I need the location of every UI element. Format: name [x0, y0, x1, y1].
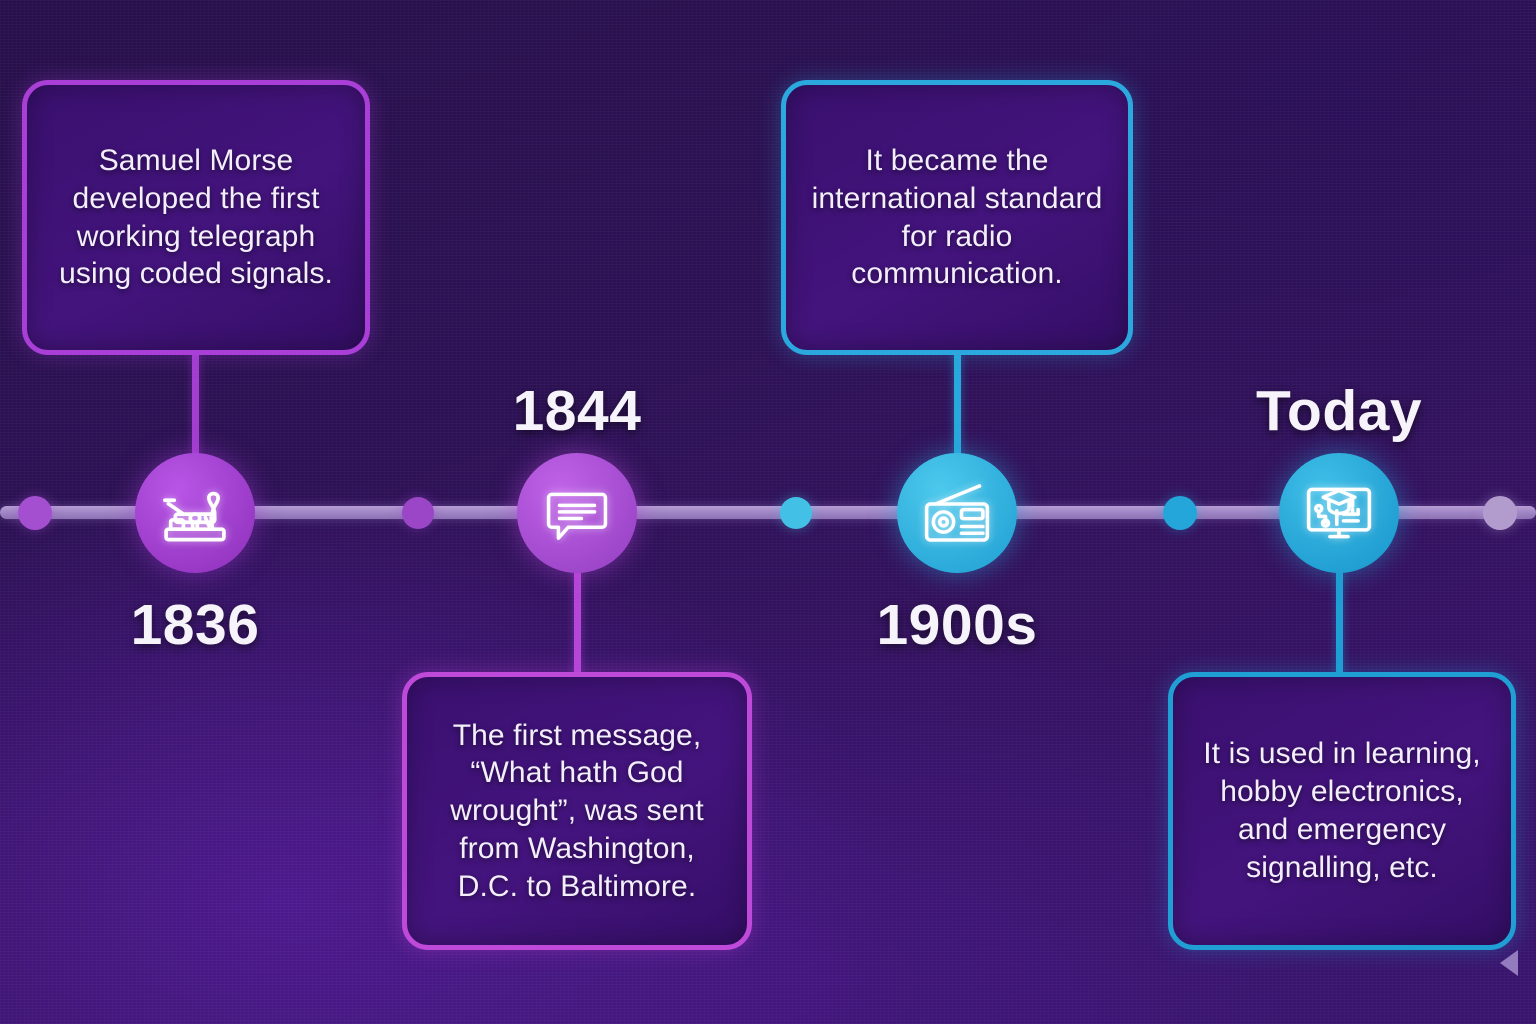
timeline-node-1844[interactable] [517, 453, 637, 573]
elearning-monitor-icon [1303, 477, 1375, 549]
milestone-year-label-1900s: 1900s [787, 592, 1127, 658]
milestone-card-text-1844: The first message, “What hath God wrough… [427, 717, 727, 906]
message-bubble-icon [542, 478, 612, 548]
connector-stem-1900s [954, 351, 961, 461]
rail-dot-start [18, 496, 52, 530]
milestone-year-label-today: Today [1169, 378, 1509, 444]
milestone-card-text-today: It is used in learning, hobby electronic… [1193, 735, 1491, 886]
milestone-card-1836[interactable]: Samuel Morse developed the first working… [22, 80, 370, 355]
connector-stem-1844 [574, 565, 581, 678]
milestone-year-label-1836: 1836 [25, 592, 365, 658]
timeline-node-1836[interactable] [135, 453, 255, 573]
timeline-node-1900s[interactable] [897, 453, 1017, 573]
milestone-card-1844[interactable]: The first message, “What hath God wrough… [402, 672, 752, 950]
rail-dot-3 [1163, 496, 1197, 530]
milestone-card-text-1836: Samuel Morse developed the first working… [47, 142, 345, 293]
rail-dot-end [1483, 496, 1517, 530]
connector-stem-1836 [192, 351, 199, 461]
rail-dot-1 [402, 497, 434, 529]
radio-icon [921, 477, 993, 549]
milestone-card-1900s[interactable]: It became the international standard for… [781, 80, 1133, 355]
milestone-year-label-1844: 1844 [407, 378, 747, 444]
corner-arrow-icon [1500, 950, 1518, 976]
telegraph-key-icon [158, 476, 232, 550]
rail-dot-2 [780, 497, 812, 529]
infographic-canvas: Samuel Morse developed the first working… [0, 0, 1536, 1024]
timeline-node-today[interactable] [1279, 453, 1399, 573]
milestone-card-today[interactable]: It is used in learning, hobby electronic… [1168, 672, 1516, 950]
milestone-card-text-1900s: It became the international standard for… [806, 142, 1108, 293]
connector-stem-today [1336, 565, 1343, 678]
